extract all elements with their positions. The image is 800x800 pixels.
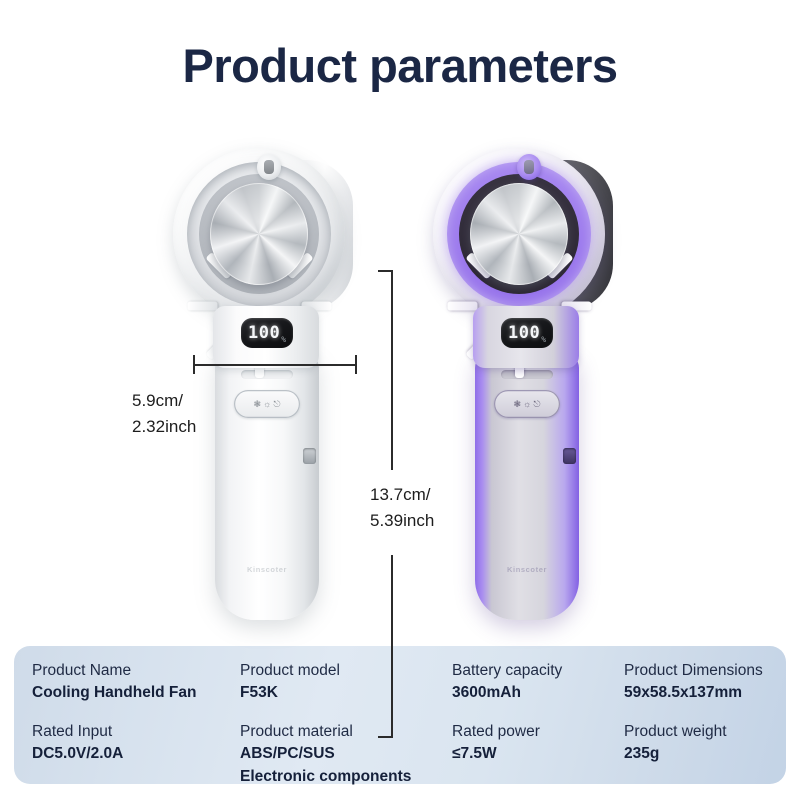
fan-hub-disc — [210, 183, 308, 285]
spec-cell: Battery capacity 3600mAh — [452, 660, 624, 705]
tilt-pivot-knob[interactable] — [517, 154, 541, 180]
spec-cell: Product weight 235g — [624, 721, 800, 788]
percent-symbol: % — [281, 335, 286, 344]
spec-value: ABS/PC/SUS Electronic components — [240, 743, 452, 788]
led-display: 100 % — [501, 318, 553, 348]
vent-slot — [241, 370, 293, 379]
spec-label: Rated power — [452, 721, 624, 743]
percent-symbol: % — [541, 335, 546, 344]
battery-percent-value: 100 — [248, 325, 280, 342]
power-icon: ⎋ — [533, 400, 540, 409]
spec-value: ≤7.5W — [452, 743, 624, 765]
spec-label: Battery capacity — [452, 660, 624, 682]
width-dimension-line — [193, 364, 357, 366]
spec-grid: Product Name Cooling Handheld Fan Produc… — [32, 660, 772, 788]
spec-value: Cooling Handheld Fan — [32, 682, 240, 704]
fan-speed-icon: ❃ — [514, 400, 522, 409]
fan-handle: ❃ ☼ ⎋ Kinscoter — [215, 352, 319, 620]
fan-speed-icon: ❃ — [254, 400, 262, 409]
spec-value: 3600mAh — [452, 682, 624, 704]
height-dimension-label: 13.7cm/ 5.39inch — [370, 482, 434, 535]
spec-label: Product weight — [624, 721, 800, 743]
spec-panel: Product Name Cooling Handheld Fan Produc… — [14, 646, 786, 784]
width-dimension-label: 5.9cm/ 2.32inch — [132, 388, 196, 441]
spec-value: 235g — [624, 743, 800, 765]
spec-value: F53K — [240, 682, 452, 704]
product-fan-purple: 100 % ❃ ☼ ⎋ Kinscoter — [425, 138, 655, 638]
spec-cell: Product Name Cooling Handheld Fan — [32, 660, 240, 705]
vent-slot — [501, 370, 553, 379]
spec-value: DC5.0V/2.0A — [32, 743, 240, 765]
spec-cell: Rated Input DC5.0V/2.0A — [32, 721, 240, 788]
brand-mark: Kinscoter — [215, 565, 319, 574]
page-title: Product parameters — [0, 38, 800, 93]
height-dimension-cap-bottom — [378, 736, 393, 738]
battery-percent-value: 100 — [508, 325, 540, 342]
tilt-pivot-knob[interactable] — [257, 154, 281, 180]
spec-cell: Product model F53K — [240, 660, 452, 705]
led-display: 100 % — [241, 318, 293, 348]
height-dimension-line-upper — [391, 270, 393, 470]
light-icon: ☼ — [523, 400, 531, 409]
product-fan-white: 100 % ❃ ☼ ⎋ Kinscoter — [165, 138, 395, 638]
spec-cell: Product Dimensions 59x58.5x137mm — [624, 660, 800, 705]
usb-c-port — [303, 448, 316, 464]
spec-label: Product Dimensions — [624, 660, 800, 682]
fan-neck-hinge[interactable]: 100 % — [213, 306, 319, 368]
fan-neck-hinge[interactable]: 100 % — [473, 306, 579, 368]
brand-mark: Kinscoter — [475, 565, 579, 574]
spec-label: Product material — [240, 721, 452, 743]
spec-label: Rated Input — [32, 721, 240, 743]
power-icon: ⎋ — [273, 400, 280, 409]
spec-cell: Product material ABS/PC/SUS Electronic c… — [240, 721, 452, 788]
height-dimension-line-lower — [391, 555, 393, 737]
control-button[interactable]: ❃ ☼ ⎋ — [494, 390, 560, 418]
product-stage: 100 % ❃ ☼ ⎋ Kinscoter — [0, 120, 800, 640]
light-icon: ☼ — [263, 400, 271, 409]
fan-hub-disc — [470, 183, 568, 285]
control-button[interactable]: ❃ ☼ ⎋ — [234, 390, 300, 418]
spec-label: Product model — [240, 660, 452, 682]
spec-cell: Rated power ≤7.5W — [452, 721, 624, 788]
spec-value: 59x58.5x137mm — [624, 682, 800, 704]
spec-label: Product Name — [32, 660, 240, 682]
fan-handle: ❃ ☼ ⎋ Kinscoter — [475, 352, 579, 620]
usb-c-port — [563, 448, 576, 464]
